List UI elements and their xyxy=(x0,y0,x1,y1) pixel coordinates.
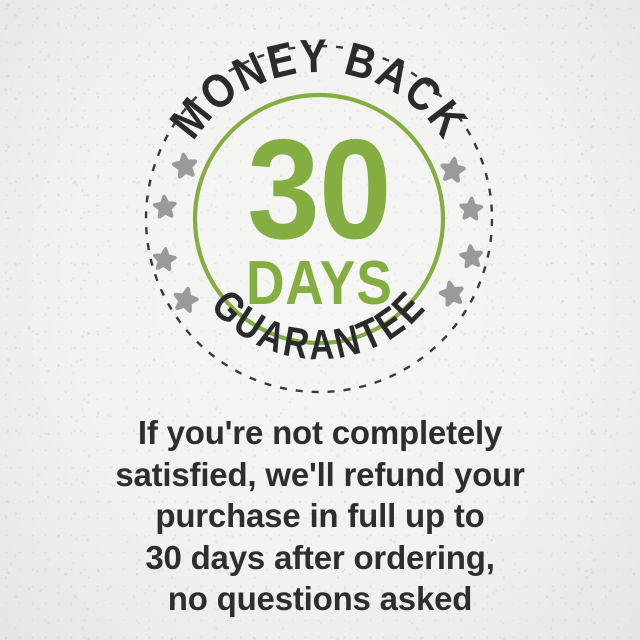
star-icon xyxy=(170,151,199,179)
seal-top-arc-text: MONEY BACK xyxy=(159,29,479,148)
promise-line: 30 days after ordering, xyxy=(54,537,586,579)
star-icon xyxy=(151,246,177,272)
guarantee-promise-text: If you're not completely satisfied, we'l… xyxy=(0,412,640,620)
star-icon xyxy=(458,243,484,269)
star-icon xyxy=(171,284,201,314)
seal-star-cluster-left xyxy=(151,151,200,314)
promise-line: satisfied, we'll refund your xyxy=(54,454,586,496)
star-icon xyxy=(437,278,467,308)
star-icon xyxy=(458,196,483,221)
star-icon xyxy=(438,155,467,183)
star-icon xyxy=(152,194,177,219)
guarantee-badge-page: MONEY BACK GUARANTEE 30 DAYS If you're n… xyxy=(0,0,640,640)
promise-line: If you're not completely xyxy=(54,412,586,454)
promise-line: no questions asked xyxy=(54,578,586,620)
seal-bottom-arc-text: GUARANTEE xyxy=(203,280,435,368)
promise-line: purchase in full up to xyxy=(54,495,586,537)
money-back-guarantee-seal: MONEY BACK GUARANTEE 30 DAYS xyxy=(144,44,494,394)
